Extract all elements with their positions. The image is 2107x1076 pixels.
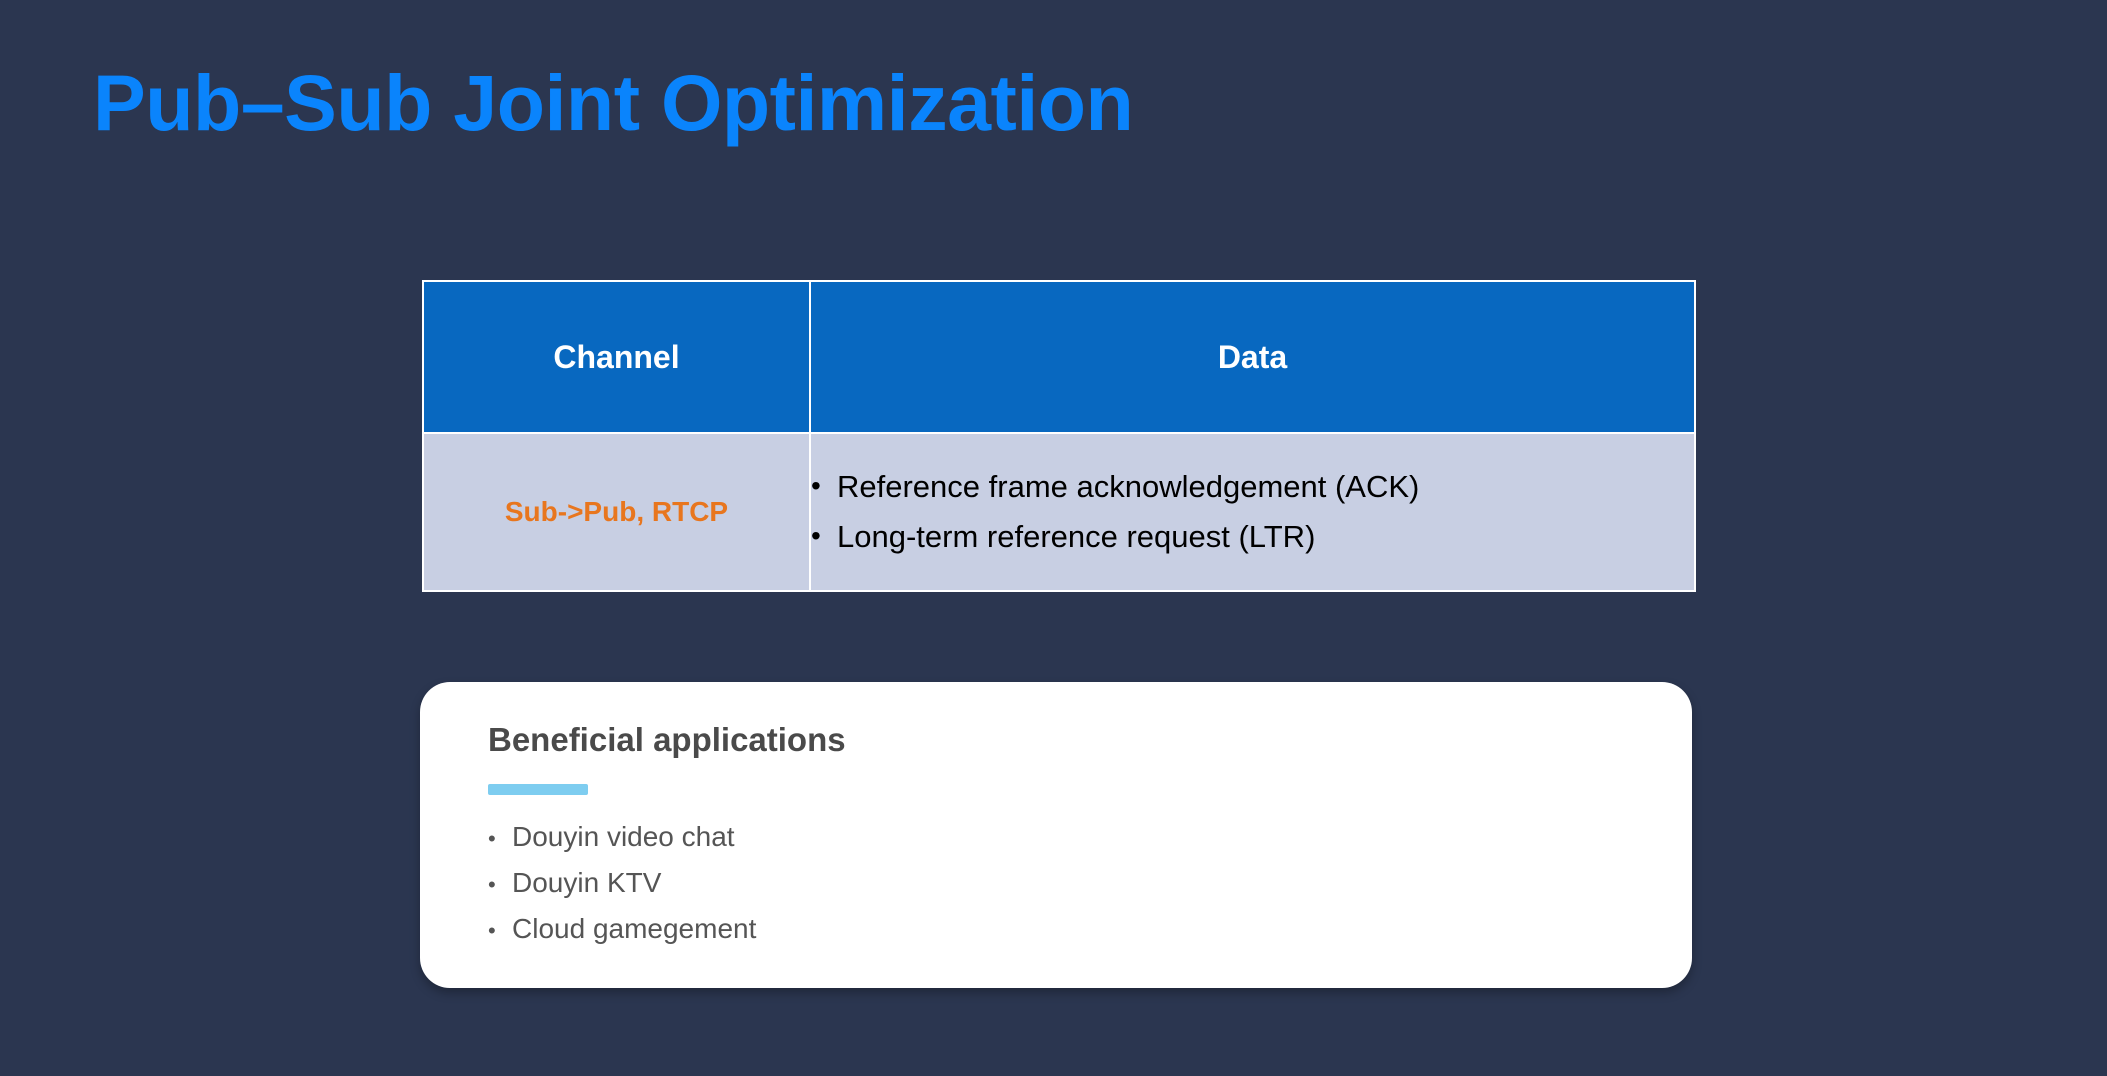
accent-bar [488, 784, 588, 795]
card-heading: Beneficial applications [488, 720, 1638, 760]
column-header-channel: Channel [423, 281, 810, 433]
data-bullet-list: • Reference frame acknowledgement (ACK) … [811, 467, 1694, 557]
channel-data-table: Channel Data Sub->Pub, RTCP • Reference … [422, 280, 1696, 592]
list-item: • Cloud gamegement [488, 915, 1638, 943]
list-item: • Long-term reference request (LTR) [811, 517, 1694, 557]
list-item: • Reference frame acknowledgement (ACK) [811, 467, 1694, 507]
list-item: • Douyin video chat [488, 823, 1638, 851]
bullet-dot-icon: • [811, 517, 837, 555]
list-item-label: Douyin video chat [512, 823, 735, 851]
list-item: • Douyin KTV [488, 869, 1638, 897]
bullet-dot-icon: • [811, 467, 837, 505]
cell-channel-value: Sub->Pub, RTCP [423, 433, 810, 591]
cell-data-value: • Reference frame acknowledgement (ACK) … [810, 433, 1695, 591]
list-item-label: Reference frame acknowledgement (ACK) [837, 467, 1419, 507]
column-header-data: Data [810, 281, 1695, 433]
beneficial-applications-card: Beneficial applications • Douyin video c… [420, 682, 1692, 988]
bullet-dot-icon: • [488, 920, 512, 942]
bullet-dot-icon: • [488, 874, 512, 896]
list-item-label: Cloud gamegement [512, 915, 756, 943]
page-title: Pub–Sub Joint Optimization [93, 58, 1133, 149]
list-item-label: Douyin KTV [512, 869, 661, 897]
bullet-dot-icon: • [488, 828, 512, 850]
table-row: Sub->Pub, RTCP • Reference frame acknowl… [423, 433, 1695, 591]
list-item-label: Long-term reference request (LTR) [837, 517, 1315, 557]
beneficial-applications-list: • Douyin video chat • Douyin KTV • Cloud… [488, 823, 1638, 943]
table-header-row: Channel Data [423, 281, 1695, 433]
